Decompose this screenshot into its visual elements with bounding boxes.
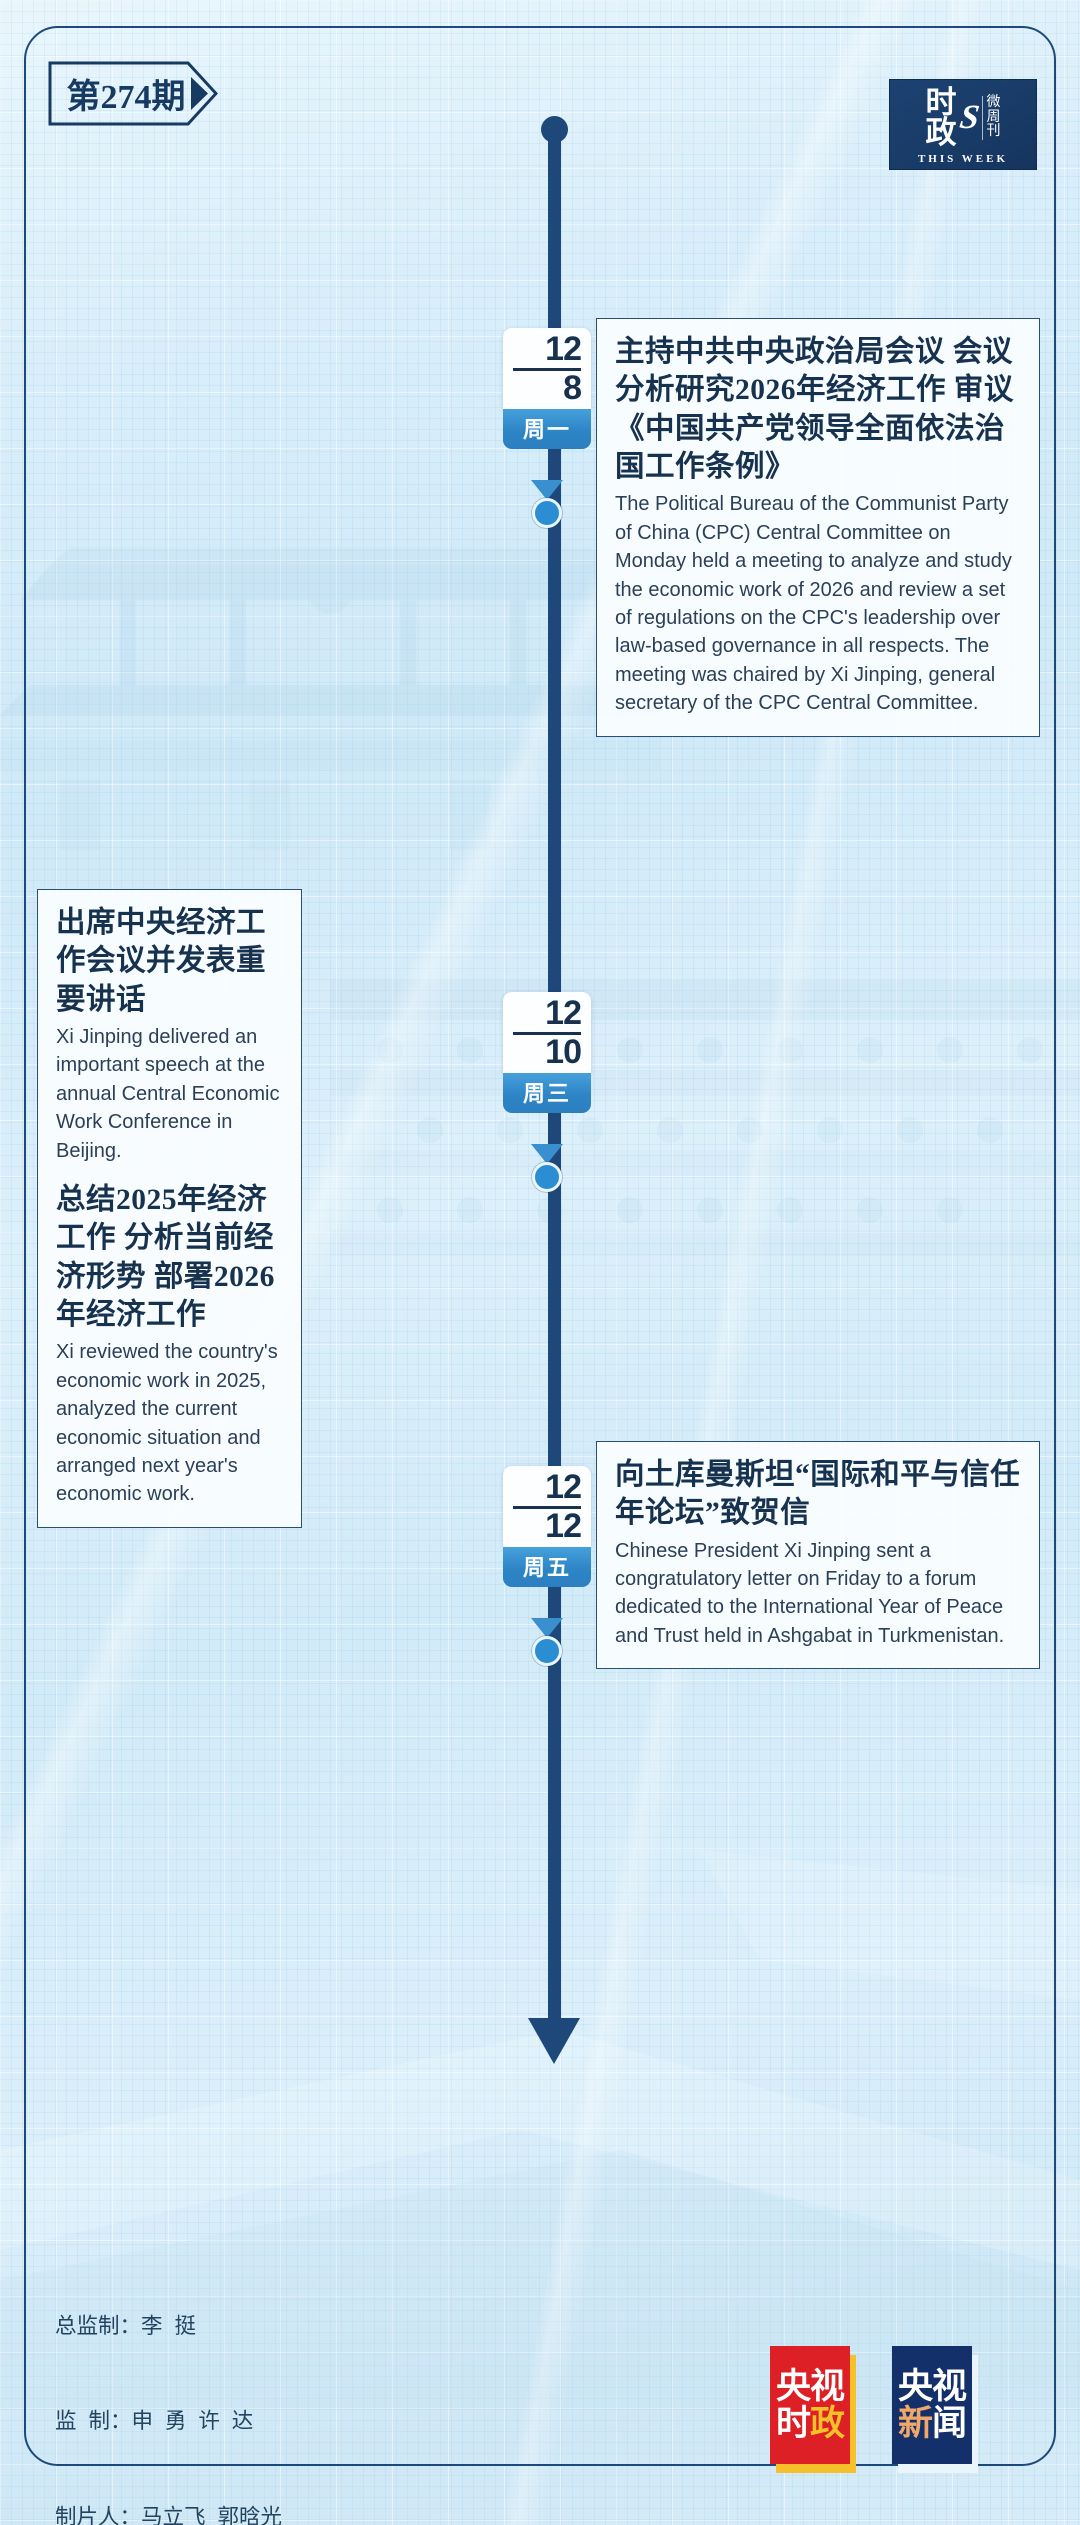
date-day-2: 10 [513, 1037, 581, 1068]
cctv-shizheng-line2: 时政 [776, 2406, 844, 2442]
date-marker-2: 12 10 周三 [503, 992, 591, 1113]
cctv-shizheng-logo: 央视 时政 [770, 2346, 850, 2464]
issue-number-badge: 第274期 [48, 61, 218, 126]
credit-line-2: 监 制：申 勇 许 达 [55, 2406, 389, 2438]
channel-logos: 央视 时政 央视 新闻 [770, 2346, 972, 2464]
credits-block: 总监制：李 挺 监 制：申 勇 许 达 制片人：马立飞 郭晗光 编 导：朱 超 … [55, 2247, 389, 2525]
program-logo: 时 政 S 微 周 刊 THIS WEEK [889, 79, 1037, 170]
program-logo-cn: 时 政 [926, 88, 956, 149]
date-weekday-3: 周五 [503, 1547, 591, 1587]
credit-line-1: 总监制：李 挺 [55, 2311, 389, 2343]
cctv-shizheng-logo-plate: 央视 时政 [770, 2346, 850, 2464]
program-logo-vertical-3: 刊 [986, 125, 1000, 140]
poster-root: 第274期 时 政 S 微 周 刊 THIS WEEK 12 8 周一 [0, 0, 1080, 2525]
cctv-xinwen-line2-a: 新 [898, 2404, 932, 2443]
timeline-node-dot-3 [532, 1636, 562, 1666]
cctv-xinwen-logo-plate: 央视 新闻 [892, 2346, 972, 2464]
issue-number-label: 第274期 [48, 61, 218, 126]
date-day-1: 8 [513, 373, 581, 404]
program-logo-s-mark: S [957, 101, 981, 135]
program-logo-cn-line2: 政 [926, 118, 956, 148]
program-logo-vertical: 微 周 刊 [982, 96, 1000, 140]
date-weekday-2: 周三 [503, 1073, 591, 1113]
card-2-body-2: Xi reviewed the country's economic work … [56, 1338, 283, 1508]
program-logo-vertical-1: 微 [986, 96, 1000, 111]
timeline-card-2: 出席中央经济工作会议并发表重要讲话 Xi Jinping delivered a… [37, 889, 302, 1528]
date-box-2: 12 10 [503, 992, 591, 1073]
card-3-body: Chinese President Xi Jinping sent a cong… [615, 1537, 1021, 1651]
card-1-title: 主持中共中央政治局会议 会议分析研究2026年经济工作 审议《中国共产党领导全面… [615, 333, 1021, 486]
cctv-xinwen-line1: 央视 [898, 2369, 966, 2405]
timeline-end-arrow-icon [528, 2018, 580, 2064]
date-marker-3: 12 12 周五 [503, 1466, 591, 1587]
date-pointer-1 [531, 480, 563, 500]
date-month-1: 12 [513, 334, 581, 365]
credit-line-3: 制片人：马立飞 郭晗光 [55, 2502, 389, 2525]
card-1-body: The Political Bureau of the Communist Pa… [615, 490, 1021, 717]
program-logo-row: 时 政 S 微 周 刊 [926, 88, 1001, 149]
date-pointer-3 [531, 1618, 563, 1638]
card-2-title-2: 总结2025年经济工作 分析当前经济形势 部署2026年经济工作 [56, 1181, 283, 1334]
cctv-xinwen-logo: 央视 新闻 [892, 2346, 972, 2464]
date-month-2: 12 [513, 998, 581, 1029]
timeline-node-dot-1 [532, 498, 562, 528]
cctv-shizheng-line1: 央视 [776, 2369, 844, 2405]
program-logo-english: THIS WEEK [918, 153, 1008, 165]
date-box-1: 12 8 [503, 328, 591, 409]
date-day-3: 12 [513, 1511, 581, 1542]
date-pointer-2 [531, 1144, 563, 1164]
date-weekday-1: 周一 [503, 409, 591, 449]
cctv-shizheng-line2-a: 时 [776, 2404, 810, 2443]
date-box-3: 12 12 [503, 1466, 591, 1547]
timeline-card-1: 主持中共中央政治局会议 会议分析研究2026年经济工作 审议《中国共产党领导全面… [596, 318, 1040, 737]
card-3-title: 向土库曼斯坦“国际和平与信任年论坛”致贺信 [615, 1456, 1021, 1533]
program-logo-cn-line1: 时 [926, 88, 956, 118]
cctv-shizheng-line2-b: 政 [810, 2404, 844, 2443]
date-month-3: 12 [513, 1472, 581, 1503]
timeline-node-dot-2 [532, 1162, 562, 1192]
date-marker-1: 12 8 周一 [503, 328, 591, 449]
card-2-body-1: Xi Jinping delivered an important speech… [56, 1023, 283, 1165]
card-2-title-1: 出席中央经济工作会议并发表重要讲话 [56, 904, 283, 1019]
timeline-card-3: 向土库曼斯坦“国际和平与信任年论坛”致贺信 Chinese President … [596, 1441, 1040, 1669]
cctv-xinwen-line2-b: 闻 [932, 2404, 966, 2443]
cctv-xinwen-line2: 新闻 [898, 2406, 966, 2442]
